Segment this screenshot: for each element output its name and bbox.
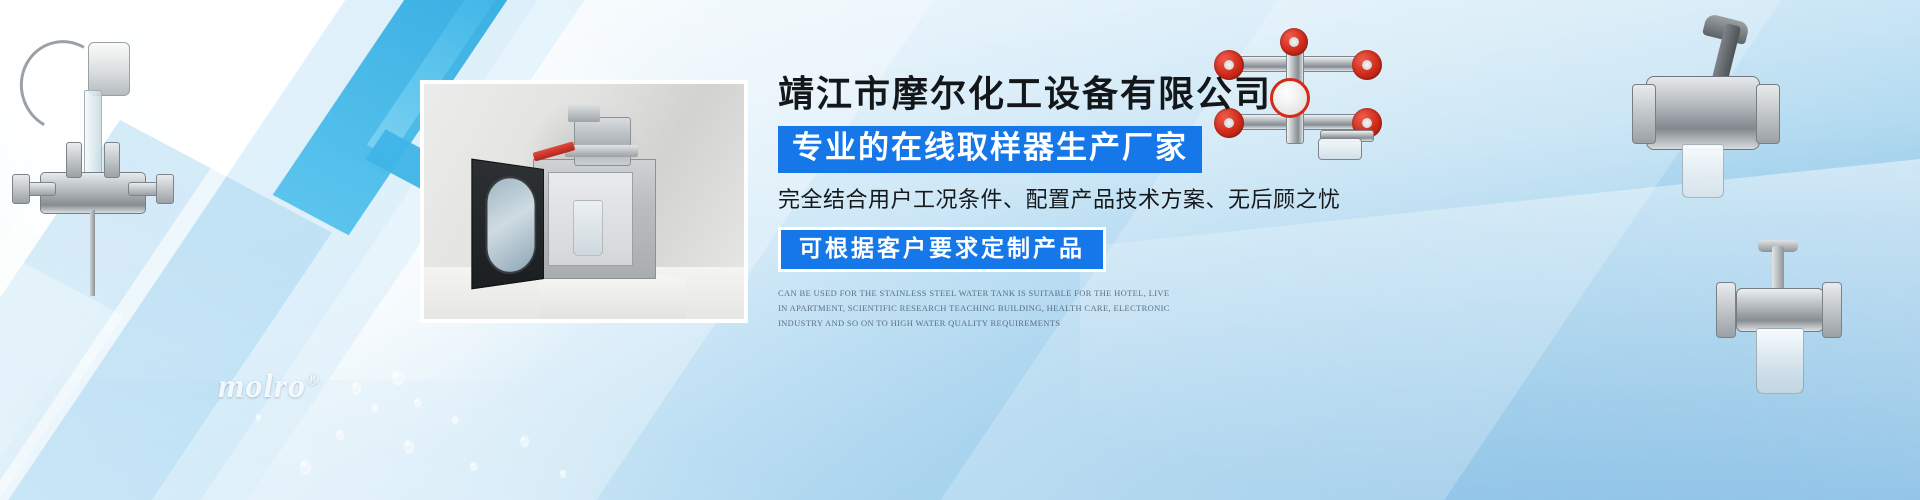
water-droplet: [352, 382, 361, 394]
watermark-text: molro: [218, 368, 306, 405]
right-equipment-image: [1630, 18, 1790, 208]
water-droplet: [414, 398, 421, 407]
registered-mark-icon: ®: [306, 370, 320, 389]
water-droplet: [300, 460, 311, 474]
product-photo: [420, 80, 748, 323]
english-caption: CAN BE USED FOR THE STAINLESS STEEL WATE…: [778, 286, 1178, 331]
headline-badge: 专业的在线取样器生产厂家: [778, 126, 1202, 173]
water-droplet: [336, 430, 344, 440]
subheadline: 完全结合用户工况条件、配置产品技术方案、无后顾之忧: [778, 186, 1418, 215]
water-droplet: [470, 462, 477, 471]
watermark-logo: molro®: [218, 368, 320, 406]
company-name: 靖江市摩尔化工设备有限公司: [778, 72, 1418, 117]
water-droplet: [372, 404, 378, 412]
bottom-right-equipment-image: [1700, 240, 1870, 410]
water-droplet: [560, 470, 566, 478]
water-droplet: [452, 416, 458, 424]
left-equipment-image: [6, 24, 171, 314]
promo-banner: 靖江市摩尔化工设备有限公司 专业的在线取样器生产厂家 完全结合用户工况条件、配置…: [0, 0, 1920, 500]
water-droplet: [520, 436, 529, 447]
cta-badge[interactable]: 可根据客户要求定制产品: [778, 227, 1106, 271]
banner-copy: 靖江市摩尔化工设备有限公司 专业的在线取样器生产厂家 完全结合用户工况条件、配置…: [778, 72, 1418, 330]
water-droplet: [404, 440, 414, 453]
water-droplet: [392, 370, 404, 385]
water-droplet: [256, 414, 261, 421]
